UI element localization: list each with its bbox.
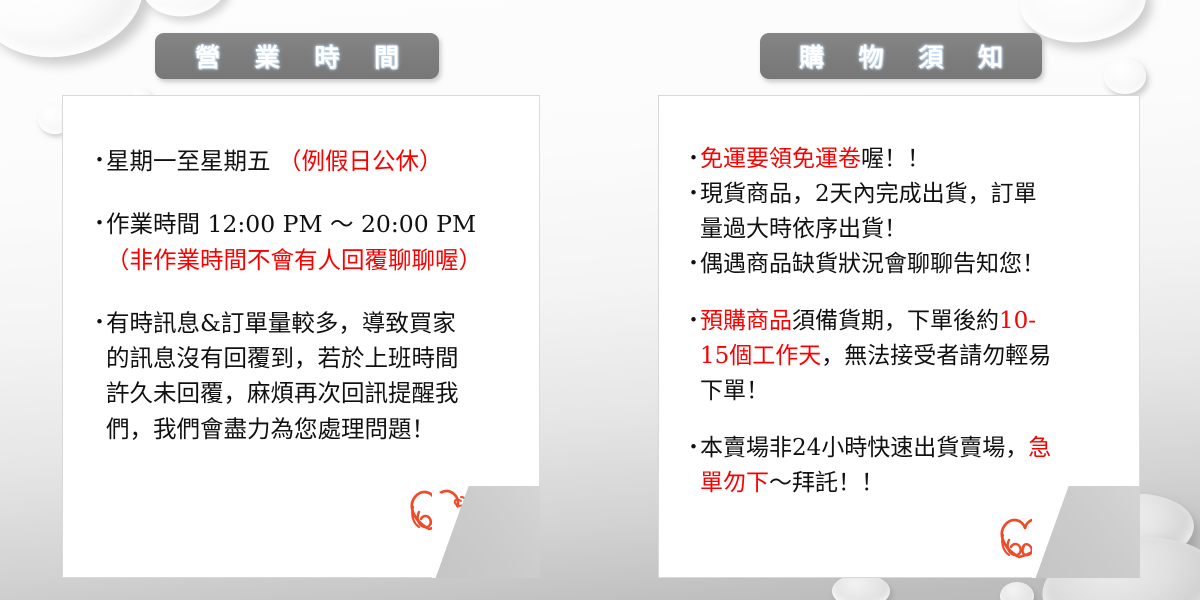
- bullet-text: 作業時間 12:00 PM ～ 20:00 PM: [106, 207, 519, 242]
- emphasis-text: （非作業時間不會有人回覆聊聊喔）: [106, 246, 482, 274]
- bullet-block: ・星期一至星期五 （例假日公休）: [89, 144, 519, 179]
- bullet-line: ・有時訊息&訂單量較多，導致買家: [89, 306, 519, 341]
- bullet-line: ・預購商品須備貨期，下單後約10-: [683, 304, 1131, 339]
- card-shopping-notice: ・免運要領免運卷喔！！・現貨商品，2天內完成出貨，訂單量過大時依序出貨！・偶遇商…: [658, 95, 1140, 578]
- bullet-text: 現貨商品，2天內完成出貨，訂單: [700, 177, 1131, 212]
- body-text: 的訊息沒有回覆到，若於上班時間: [106, 344, 459, 372]
- love-script-logo-icon: [989, 507, 1081, 563]
- bullet-dot-icon: ・: [683, 177, 700, 210]
- bullet-block: ・有時訊息&訂單量較多，導致買家的訊息沒有回覆到，若於上班時間許久未回覆，麻煩再…: [89, 306, 519, 447]
- bullet-text: 下單！: [700, 374, 1131, 409]
- body-text: 星期一至星期五: [106, 147, 278, 175]
- emphasis-text: 單勿下: [700, 470, 769, 496]
- body-text: 下單！: [700, 378, 769, 404]
- bullet-text: 偶遇商品缺貨狀況會聊聊告知您！: [700, 247, 1131, 282]
- bullet-dot-icon: ・: [683, 431, 700, 464]
- bullet-text: 星期一至星期五 （例假日公休）: [106, 144, 519, 179]
- bullet-dot-icon: ・: [683, 142, 700, 175]
- bullet-text: 量過大時依序出貨！: [700, 212, 1131, 247]
- bullet-text: 有時訊息&訂單量較多，導致買家: [106, 306, 519, 341]
- bullet-text: （非作業時間不會有人回覆聊聊喔）: [106, 243, 519, 278]
- bullet-block: ・作業時間 12:00 PM ～ 20:00 PM（非作業時間不會有人回覆聊聊喔…: [89, 207, 519, 278]
- bullet-block: ・免運要領免運卷喔！！・現貨商品，2天內完成出貨，訂單量過大時依序出貨！・偶遇商…: [683, 142, 1131, 282]
- section-header-business-hours: 營 業 時 間: [155, 33, 439, 79]
- bullet-line: 單勿下～拜託！！: [683, 466, 1131, 501]
- bullet-text: 們，我們會盡力為您處理問題！: [106, 412, 519, 447]
- bullet-text: 單勿下～拜託！！: [700, 466, 1131, 501]
- bullet-text: 本賣場非24小時快速出貨賣場，急: [700, 431, 1131, 466]
- section-header-label: 購 物 須 知: [786, 38, 1016, 74]
- bullet-dot-icon: ・: [89, 207, 106, 240]
- emphasis-text: （例假日公休）: [278, 147, 443, 175]
- bullet-line: ・星期一至星期五 （例假日公休）: [89, 144, 519, 179]
- bubble-top-left-large-icon: [0, 0, 155, 72]
- body-text: 本賣場非24小時快速出貨賣場，: [700, 435, 1028, 461]
- bullet-line: 下單！: [683, 374, 1131, 409]
- section-header-shopping-notice: 購 物 須 知: [760, 33, 1042, 79]
- body-text: 現貨商品，2天內完成出貨，訂單: [700, 181, 1037, 207]
- bullet-line: ・本賣場非24小時快速出貨賣場，急: [683, 431, 1131, 466]
- bubble-bottom-right-tiny-icon: [1000, 582, 1034, 600]
- body-text: 有時訊息&訂單量較多，導致買家: [106, 309, 456, 337]
- bullet-line: 15個工作天，無法接受者請勿輕易: [683, 339, 1131, 374]
- bullet-dot-icon: ・: [89, 144, 106, 177]
- emphasis-text: 急: [1028, 435, 1051, 461]
- body-text: ～拜託！！: [769, 470, 884, 496]
- section-header-label: 營 業 時 間: [182, 38, 412, 74]
- bullet-text: 許久未回覆，麻煩再次回訊提醒我: [106, 376, 519, 411]
- bullet-line: 們，我們會盡力為您處理問題！: [89, 412, 519, 447]
- body-text: 須備貨期，下單後約: [792, 308, 999, 334]
- bullet-line: ・現貨商品，2天內完成出貨，訂單: [683, 177, 1131, 212]
- bullet-line: 的訊息沒有回覆到，若於上班時間: [89, 341, 519, 376]
- card-business-hours: ・星期一至星期五 （例假日公休）・作業時間 12:00 PM ～ 20:00 P…: [62, 95, 540, 578]
- body-text: 喔！！: [861, 146, 930, 172]
- emphasis-text: 免運要領免運卷: [700, 146, 861, 172]
- bullet-line: ・作業時間 12:00 PM ～ 20:00 PM: [89, 207, 519, 242]
- bullet-text: 免運要領免運卷喔！！: [700, 142, 1131, 177]
- body-text: 作業時間 12:00 PM ～ 20:00 PM: [106, 210, 476, 238]
- card-content: ・星期一至星期五 （例假日公休）・作業時間 12:00 PM ～ 20:00 P…: [63, 96, 539, 447]
- body-text: ，無法接受者請勿輕易: [821, 343, 1051, 369]
- card-content: ・免運要領免運卷喔！！・現貨商品，2天內完成出貨，訂單量過大時依序出貨！・偶遇商…: [659, 96, 1139, 501]
- emphasis-text: 10-: [999, 308, 1036, 334]
- bullet-block: ・預購商品須備貨期，下單後約10-15個工作天，無法接受者請勿輕易下單！: [683, 304, 1131, 409]
- emphasis-text: 15個工作天: [700, 343, 821, 369]
- bubble-top-middle-icon: [138, 0, 232, 22]
- body-text: 們，我們會盡力為您處理問題！: [106, 415, 435, 443]
- bullet-line: （非作業時間不會有人回覆聊聊喔）: [89, 243, 519, 278]
- bullet-dot-icon: ・: [683, 304, 700, 337]
- body-text: 量過大時依序出貨！: [700, 216, 907, 242]
- love-script-logo-icon: [399, 479, 491, 535]
- bullet-text: 預購商品須備貨期，下單後約10-: [700, 304, 1131, 339]
- bullet-line: 許久未回覆，麻煩再次回訊提醒我: [89, 376, 519, 411]
- bullet-block: ・本賣場非24小時快速出貨賣場，急單勿下～拜託！！: [683, 431, 1131, 501]
- bullet-line: ・免運要領免運卷喔！！: [683, 142, 1131, 177]
- emphasis-text: 預購商品: [700, 308, 792, 334]
- body-text: 偶遇商品缺貨狀況會聊聊告知您！: [700, 251, 1045, 277]
- bullet-text: 15個工作天，無法接受者請勿輕易: [700, 339, 1131, 374]
- bullet-line: ・偶遇商品缺貨狀況會聊聊告知您！: [683, 247, 1131, 282]
- bullet-text: 的訊息沒有回覆到，若於上班時間: [106, 341, 519, 376]
- bullet-dot-icon: ・: [89, 306, 106, 339]
- bullet-dot-icon: ・: [683, 247, 700, 280]
- body-text: 許久未回覆，麻煩再次回訊提醒我: [106, 379, 459, 407]
- bubble-top-right-small-icon: [1104, 58, 1146, 94]
- bullet-line: 量過大時依序出貨！: [683, 212, 1131, 247]
